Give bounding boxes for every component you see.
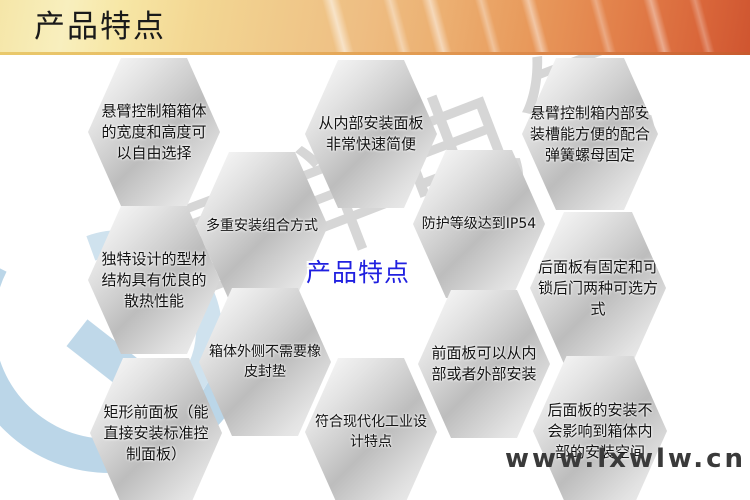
hex-label: 符合现代化工业设计特点 (305, 412, 437, 452)
page-title: 产品特点 (34, 4, 166, 50)
slide-header: 产品特点 (0, 0, 750, 55)
slide-canvas: 产品特点 高洋电气 悬臂控制箱箱体的宽度和高度可以自由选择 从内部安装面板非常快… (0, 0, 750, 500)
center-callout-label: 产品特点 (306, 258, 410, 288)
site-watermark: www.lxwlw.cn (505, 444, 746, 474)
hex-label: 前面板可以从内部或者外部安装 (418, 343, 550, 385)
hex-label: 箱体外侧不需要橡皮封垫 (199, 342, 331, 382)
hex-label: 矩形前面板（能直接安装标准控制面板） (90, 402, 222, 465)
hex-label: 多重安装组合方式 (198, 216, 326, 236)
hex-label: 防护等级达到IP54 (414, 214, 544, 234)
hex-label: 后面板有固定和可锁后门两种可选方式 (530, 257, 666, 320)
hex-label: 从内部安装面板非常快速简便 (305, 113, 437, 155)
hex-label: 悬臂控制箱箱体的宽度和高度可以自由选择 (88, 101, 220, 164)
hex-label: 悬臂控制箱内部安装槽能方便的配合弹簧螺母固定 (522, 103, 658, 166)
hex-label: 独特设计的型材结构具有优良的散热性能 (88, 249, 220, 312)
